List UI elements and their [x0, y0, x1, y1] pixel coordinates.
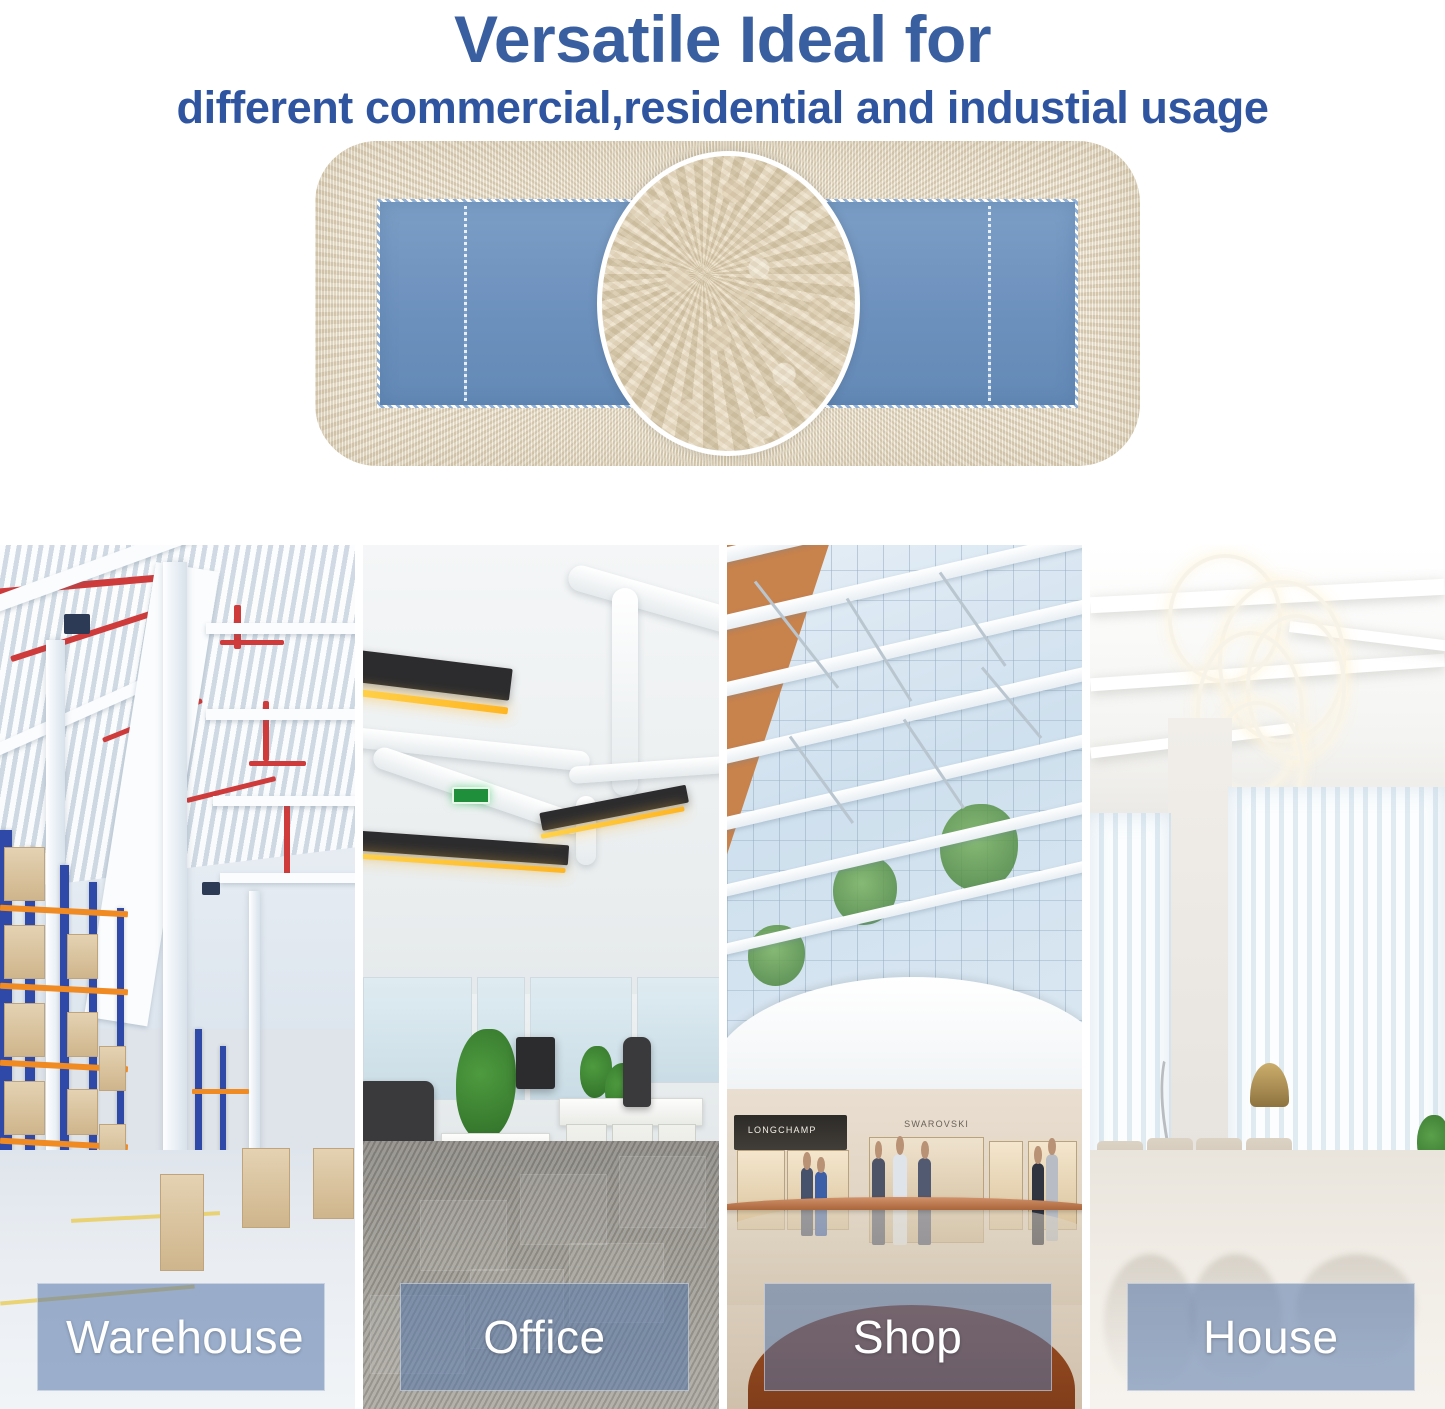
scenario-label-shop: Shop: [853, 1310, 962, 1364]
storefront-sign-swarovski: SWAROVSKI: [904, 1119, 969, 1129]
storefront-sign-longchamp: LONGCHAMP: [748, 1125, 817, 1135]
house-photo: [1090, 545, 1445, 1409]
scenario-tile-warehouse[interactable]: Warehouse: [0, 545, 355, 1409]
warehouse-photo: [0, 545, 355, 1409]
shop-photo: LONGCHAMP SWAROVSKI: [727, 545, 1082, 1409]
scenario-label-office: Office: [483, 1310, 605, 1364]
office-photo: [363, 545, 718, 1409]
scenario-label-box-office: Office: [400, 1283, 688, 1391]
scenario-label-box-house: House: [1127, 1283, 1415, 1391]
page-subtitle: different commercial,residential and ind…: [0, 84, 1445, 131]
magnifier-inset-yarn-closeup: [597, 151, 860, 456]
product-hero: [0, 131, 1445, 481]
usage-scenario-strip: Warehouse: [0, 545, 1445, 1409]
scenario-label-warehouse: Warehouse: [66, 1310, 304, 1364]
scenario-label-box-warehouse: Warehouse: [37, 1283, 325, 1391]
scenario-label-box-shop: Shop: [764, 1283, 1052, 1391]
scenario-tile-shop[interactable]: LONGCHAMP SWAROVSKI: [727, 545, 1082, 1409]
page-title: Versatile Ideal for: [0, 6, 1445, 72]
promo-header: Versatile Ideal for different commercial…: [0, 0, 1445, 131]
scenario-label-house: House: [1203, 1310, 1338, 1364]
scenario-tile-house[interactable]: House: [1090, 545, 1445, 1409]
scenario-tile-office[interactable]: Office: [363, 545, 718, 1409]
product-image-dust-mop-head: [315, 141, 1140, 466]
